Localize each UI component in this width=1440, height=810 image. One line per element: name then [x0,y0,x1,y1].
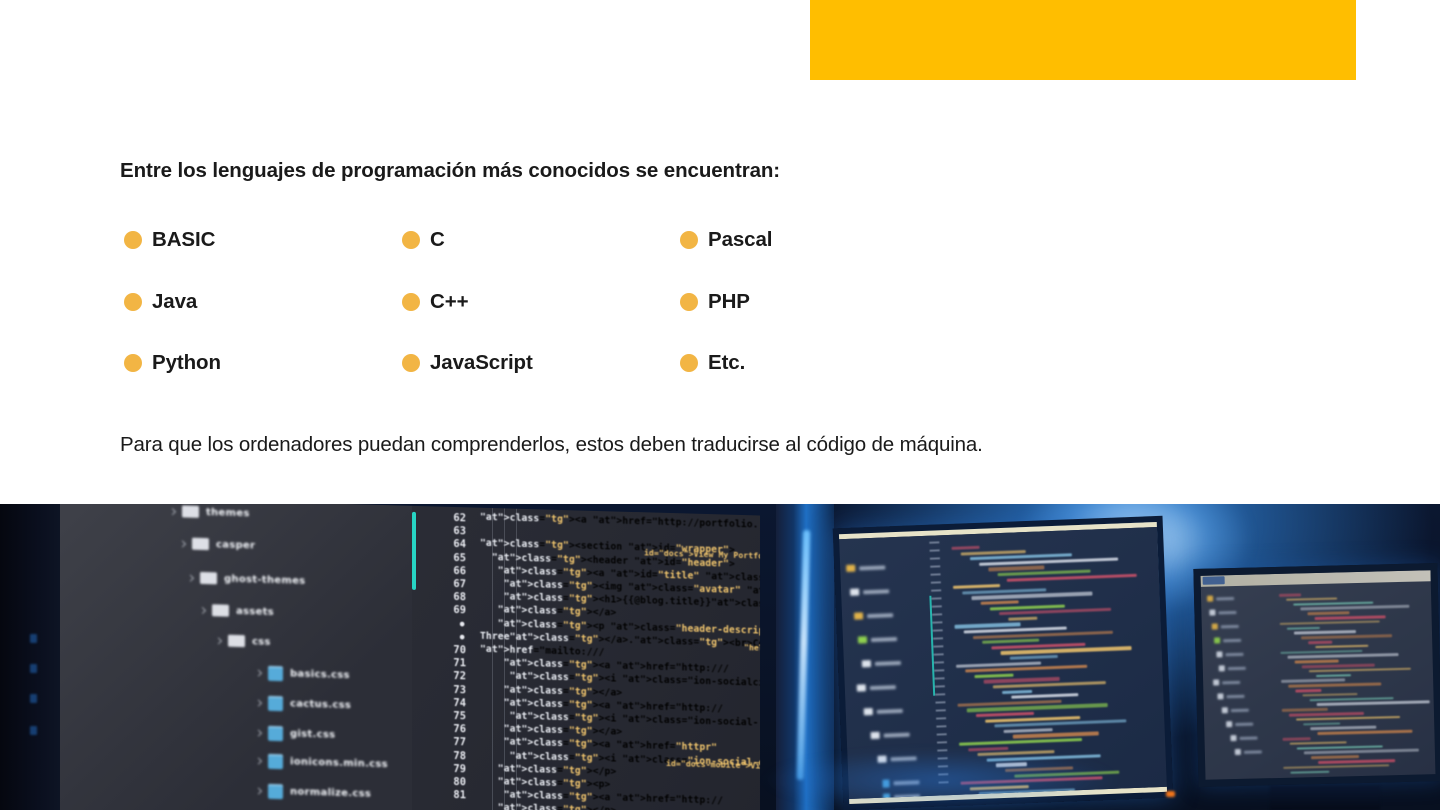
folder-icon [1212,623,1218,629]
folder-icon [182,505,199,517]
monitor-2-tree-item [857,683,896,691]
css-file-icon [268,784,283,799]
code-line [953,584,1000,589]
monitor-3-tree-item [1209,609,1236,616]
list-item-pascal: Pascal [680,226,772,254]
code-line [1280,620,1380,625]
line-number: 71 [453,657,466,669]
line-number: 77 [453,736,466,748]
folder-icon [850,588,859,595]
code-line [1004,728,1053,733]
monitor-1: themescasperghost-themesassetscssbasics.… [60,504,760,810]
line-number: 75 [453,710,466,722]
code-line [976,712,1034,717]
code-line [1289,712,1364,716]
language-label: C++ [430,290,468,314]
tree-item-label: casper [216,539,255,551]
folder-icon [1222,707,1228,713]
bullet-dot-icon [124,293,142,311]
folder-icon [857,684,866,691]
code-line [1300,605,1409,610]
monitor-1-tree-item: css [216,634,271,648]
chevron-icon [215,637,222,644]
monitor-2-tree-item [858,635,897,643]
monitor-3-stand [1270,786,1380,810]
chevron-icon [199,606,206,613]
code-annotation: id="docs-mobile">View My Portfolio</a> [666,759,760,773]
folder-icon [862,660,871,667]
code-line [974,673,1013,678]
list-item-etc: Etc. [680,349,745,377]
code-line: "at">class="tg"><p> [480,776,610,791]
chevron-icon [179,540,186,547]
language-label: Etc. [708,351,745,375]
language-label: JavaScript [430,351,533,375]
language-label: Python [152,351,221,375]
language-label: Java [152,290,197,314]
code-line [959,738,1082,746]
list-item-cpp: C++ [402,288,468,316]
code-line: "at">class="tg"></p> [480,802,616,810]
css-file-icon [268,666,283,681]
code-line [1013,732,1099,738]
line-number: 68 [453,591,466,603]
code-line: "at">class="tg"></a> [480,723,622,738]
code-line [1287,627,1320,630]
line-number: 74 [453,697,466,709]
code-line [1317,701,1430,706]
folder-icon [1226,721,1232,727]
language-label: C [430,228,445,252]
code-line [1288,653,1399,658]
chevron-icon [255,730,262,737]
monitor-3 [1193,563,1440,787]
monitor-2-tree-item [850,587,889,595]
code-line [981,600,1019,605]
code-line [1309,668,1411,673]
line-number: 72 [453,670,466,682]
line-number: 69 [453,604,466,616]
language-row: Java C++ PHP [120,288,920,350]
line-number: 78 [453,750,466,762]
chevron-icon [255,758,262,765]
folder-icon [846,565,855,572]
monitor-2-tree-item [862,659,901,667]
tree-item-label: assets [236,605,274,617]
list-item-javascript: JavaScript [402,349,533,377]
folder-icon [1209,609,1215,615]
chevron-icon [255,788,262,795]
code-line [1286,597,1337,601]
folder-icon [871,732,880,739]
code-line: "at">href="mailto:/// [480,644,604,658]
monitor-3-tree-item [1214,637,1241,644]
code-line [982,639,1039,644]
code-line [1311,755,1359,759]
folder-icon [1217,693,1223,699]
code-line [1310,726,1376,730]
folder-icon [212,604,229,616]
closing-paragraph: Para que los ordenadores puedan comprend… [120,433,983,457]
bullet-dot-icon [680,354,698,372]
code-line [1301,634,1392,639]
monitor-1-tree-item: ionicons.min.css [256,753,388,772]
code-line [1290,741,1347,745]
monitor-2-tree-item [871,731,910,739]
tree-item-label: gist.css [290,728,335,740]
monitor-3-tree-item [1230,734,1257,741]
page-title: Entre los lenguajes de programación más … [120,159,780,183]
list-item-c: C [402,226,445,254]
code-line [1008,616,1037,620]
language-label: PHP [708,290,750,314]
list-item-php: PHP [680,288,750,316]
folder-icon [864,708,873,715]
code-line [1002,689,1032,693]
monitor-1-tree-item: themes [170,505,250,519]
monitor-1-tree-item: assets [200,604,274,618]
monitor-3-code-pane [1275,586,1429,769]
code-line [1295,689,1321,692]
monitor-1-tree-item: gist.css [256,725,335,742]
bullet-dot-icon [124,231,142,249]
code-line [1307,611,1349,615]
tree-item-label: ionicons.min.css [290,756,388,770]
code-line [1316,674,1351,677]
bullet-dot-icon [402,231,420,249]
code-line [1295,660,1339,664]
monitor-1-tree-item: cactus.css [256,695,351,713]
slide: Entre los lenguajes de programación más … [0,0,1440,810]
monitor-3-tree-item [1219,665,1246,672]
code-line [1315,615,1386,619]
code-line [1279,593,1301,596]
code-line [1318,759,1395,763]
line-number: 62 [453,512,466,524]
monitor-2-tree-item [864,707,903,715]
monitor-3-tree-item [1222,707,1249,714]
folder-icon [200,572,217,584]
code-line: "at">class="tg"></p> [480,763,616,778]
monitor-1-tree-item: normalize.css [256,783,371,801]
folder-icon [1207,596,1213,602]
code-line: "at">class="tg"><a "at">href="http://por… [480,512,759,531]
folder-icon [228,635,245,647]
chevron-icon [255,670,262,677]
hero-photo: themescasperghost-themesassetscssbasics.… [0,504,1440,810]
monitor-3-tree-item [1217,693,1244,700]
line-number: 64 [453,538,466,550]
code-line [1282,708,1328,712]
monitor-3-tree-item [1212,623,1239,630]
tree-item-label: themes [206,507,250,519]
monitor-1-tree-item: ghost-themes [188,572,305,587]
language-label: BASIC [152,228,215,252]
list-item-python: Python [124,349,221,377]
code-line [1296,716,1400,721]
code-line [1011,693,1078,699]
monitor-3-screen [1201,570,1436,780]
line-number: 70 [453,644,466,656]
code-line [1283,737,1311,740]
chevron-icon [255,700,262,707]
code-line [1310,697,1394,702]
folder-icon [858,636,867,643]
list-item-basic: BASIC [124,226,215,254]
code-line: "at">class="tg"></a> [480,604,616,619]
folder-icon [1219,665,1225,671]
monitor-3-tree-item [1207,595,1234,602]
folder-icon [1213,679,1219,685]
tree-item-label: ghost-themes [224,573,305,586]
monitor-3-file-tree [1205,590,1265,775]
bullet-dot-icon [402,354,420,372]
power-led-icon [1166,791,1175,797]
code-line [1288,683,1381,688]
folder-icon [854,612,863,619]
line-number: 79 [453,763,466,775]
bullet-dot-icon [402,293,420,311]
language-row: BASIC C Pascal [120,226,920,288]
folder-icon [192,538,209,550]
tree-item-label: css [252,636,271,648]
line-number: 65 [453,552,466,564]
code-line [1293,601,1373,606]
accent-block [810,0,1356,80]
monitor-1-scrollbar [412,512,416,590]
monitor-3-tree-item [1235,748,1262,755]
monitor-1-tree-item: casper [180,537,255,551]
code-line [1281,679,1345,683]
folder-icon [1216,651,1222,657]
line-number: 76 [453,723,466,735]
folder-icon [1235,749,1241,755]
monitor-1-file-tree: themescasperghost-themesassetscssbasics.… [60,504,412,810]
code-line [1290,770,1329,774]
monitor-3-tree-item [1213,679,1240,686]
line-number: 73 [453,684,466,696]
css-file-icon [268,754,283,769]
code-line [1280,650,1362,655]
chevron-icon [187,574,194,581]
code-line [952,546,980,550]
code-line [1302,693,1357,697]
line-number: 67 [453,578,466,590]
code-line [1302,664,1375,668]
code-line [955,623,1021,629]
code-line [1294,630,1356,634]
css-file-icon [268,726,283,741]
tree-item-label: normalize.css [290,786,371,799]
tree-item-label: basics.css [290,668,350,681]
code-line [1283,764,1389,769]
language-label: Pascal [708,228,772,252]
code-line [1297,745,1383,750]
folder-icon [1230,735,1236,741]
chevron-icon [169,508,176,515]
line-number: 63 [453,525,466,537]
line-number: 80 [453,776,466,788]
list-item-java: Java [124,288,197,316]
bullet-dot-icon [680,293,698,311]
code-line [1315,645,1368,649]
bullet-dot-icon [124,354,142,372]
monitor-1-line-number-gutter: 6263646566676869••7071727374757677787980… [420,506,472,810]
tree-item-label: cactus.css [290,698,351,711]
code-line [1308,641,1332,644]
monitor-1-tree-item: basics.css [256,665,350,683]
desk-glow [760,750,1120,810]
monitor-3-tree-item [1226,721,1253,728]
line-number: 81 [453,789,466,801]
code-line [961,550,1026,556]
code-line [1303,722,1340,725]
language-row: Python JavaScript Etc. [120,349,920,411]
code-line [1317,730,1412,735]
bullet-dot-icon [680,231,698,249]
monitor-2-tree-item [854,611,893,619]
code-line [1010,655,1058,660]
monitor-1-code-pane: "at">class="tg"><a "at">href="http://por… [476,508,760,810]
folder-icon [1214,637,1220,643]
monitor-2-tree-item [846,563,885,571]
code-line: "at">class="tg"></a> [480,683,622,698]
language-grid: BASIC C Pascal Java C++ [120,226,920,411]
monitor-3-tree-item [1216,651,1243,658]
code-line [1304,749,1419,754]
css-file-icon [268,696,283,711]
line-number: 66 [453,565,466,577]
code-annotation: "hello</a> or [744,643,760,654]
code-line [988,566,1044,571]
